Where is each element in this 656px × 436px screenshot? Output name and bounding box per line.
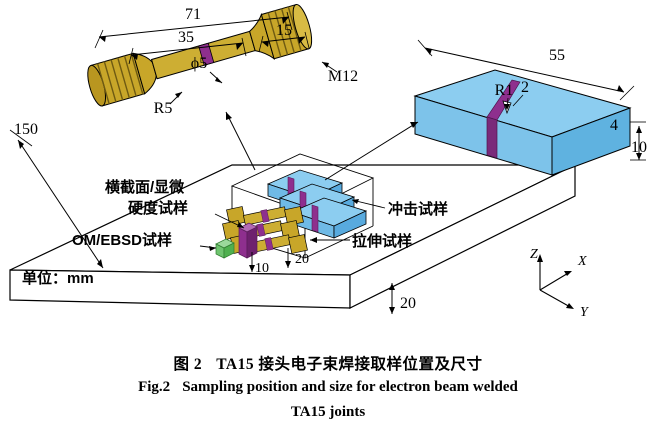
dim-71-text: 71 bbox=[185, 6, 201, 23]
caption-english-text1: Sampling position and size for electron … bbox=[182, 379, 518, 395]
dimension-impact-10: 10 bbox=[630, 122, 647, 160]
label-cross-section-line1: 横截面/显微 bbox=[105, 178, 185, 196]
axis-triad: Z X Y bbox=[530, 247, 590, 320]
figure-illustration: 150 20 bbox=[0, 0, 656, 350]
dim-M12-text: M12 bbox=[328, 68, 358, 85]
axis-label-z: Z bbox=[530, 247, 538, 262]
dim-2-text: 2 bbox=[521, 79, 529, 96]
dim-block-20-text: 20 bbox=[295, 252, 309, 267]
label-unit: 单位：mm bbox=[22, 269, 94, 287]
caption-english-text2: TA15 joints bbox=[291, 404, 365, 420]
caption-chinese: 图 2TA15 接头电子束焊接取样位置及尺寸 bbox=[0, 352, 656, 374]
dimension-plate-thickness: 20 bbox=[389, 283, 416, 314]
axis-label-y: Y bbox=[580, 305, 590, 320]
dim-35-text: 35 bbox=[178, 29, 194, 46]
dim-block-10-text: 10 bbox=[255, 261, 269, 276]
dimension-4: 4 bbox=[610, 117, 618, 134]
caption-english-line1: Fig.2Sampling position and size for elec… bbox=[0, 379, 656, 396]
dim-phi5-text: ϕ5 bbox=[191, 55, 207, 72]
dimension-M12: M12 bbox=[322, 62, 358, 85]
caption-english-label: Fig.2 bbox=[138, 379, 170, 395]
label-om-ebsd: OM/EBSD试样 bbox=[72, 231, 172, 249]
caption-chinese-text: TA15 接头电子束焊接取样位置及尺寸 bbox=[216, 356, 482, 373]
dim-plate-thickness-text: 20 bbox=[400, 295, 416, 312]
label-tensile-specimen: 拉伸试样 bbox=[352, 232, 412, 250]
caption-english-line2: TA15 joints bbox=[0, 404, 656, 421]
tensile-specimens-cluster bbox=[223, 207, 308, 254]
dim-impact-10-text: 10 bbox=[631, 139, 647, 156]
label-impact-specimen: 冲击试样 bbox=[388, 200, 448, 218]
dim-4-text: 4 bbox=[610, 117, 618, 134]
dimension-R5: R5 bbox=[154, 92, 182, 117]
dim-15-text: 15 bbox=[276, 22, 292, 39]
axis-label-x: X bbox=[577, 254, 587, 269]
caption-chinese-label: 图 2 bbox=[174, 356, 203, 373]
dim-R5-text: R5 bbox=[154, 100, 173, 117]
dim-150-text: 150 bbox=[14, 121, 38, 138]
label-cross-section-line2: 硬度试样 bbox=[128, 199, 188, 217]
cross-section-sample bbox=[239, 223, 257, 258]
dim-R1-text: R1 bbox=[495, 82, 514, 99]
figure-page: 150 20 bbox=[0, 0, 656, 436]
dim-55-text: 55 bbox=[549, 47, 565, 64]
